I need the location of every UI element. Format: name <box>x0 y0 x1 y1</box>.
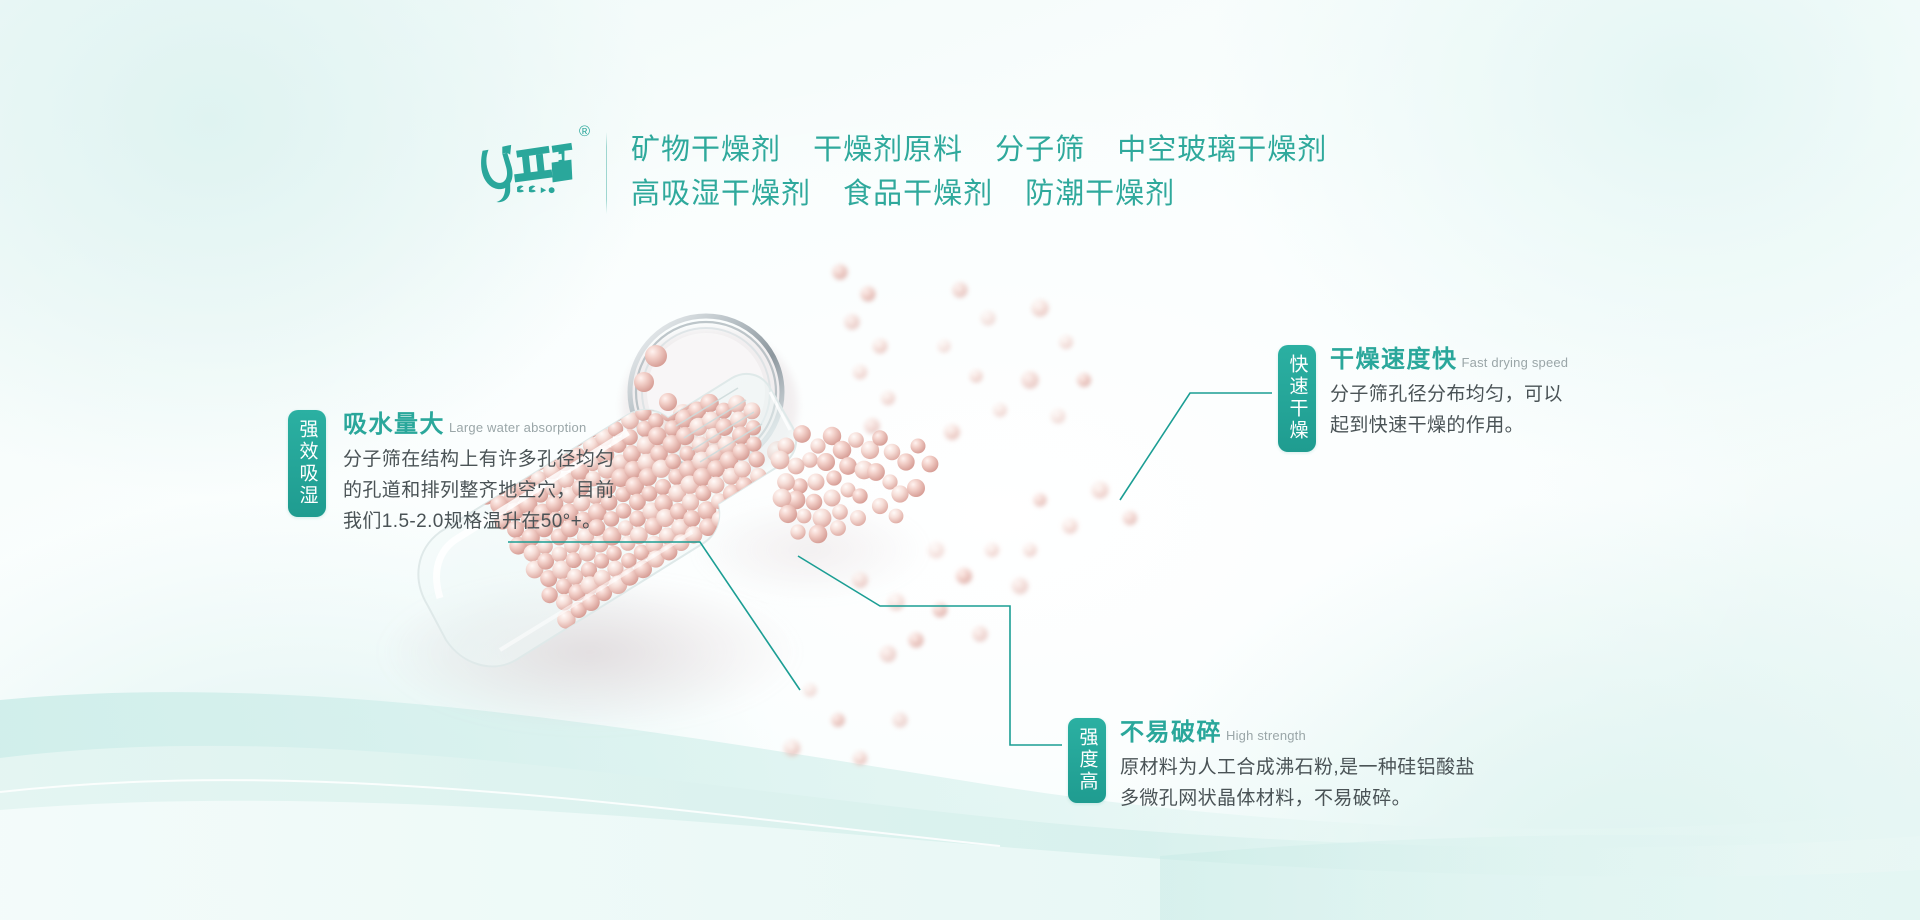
callout-body: 吸水量大 Large water absorption 分子筛在结构上有许多孔径… <box>343 410 615 537</box>
callout-high-strength: 强度高 不易破碎 High strength 原材料为人工合成沸石粉,是一种硅铝… <box>1068 718 1475 814</box>
banner-stage: ® 矿物干燥剂 干燥剂原料 分子筛 中空玻璃干燥剂 高吸湿干燥剂 食品干燥剂 防… <box>0 0 1920 920</box>
callout-body: 干燥速度快 Fast drying speed 分子筛孔径分布均匀，可以 起到快… <box>1330 345 1568 441</box>
callout-text: 原材料为人工合成沸石粉,是一种硅铝酸盐 多微孔网状晶体材料，不易破碎。 <box>1120 752 1475 814</box>
callout-title: 不易破碎 <box>1120 718 1222 748</box>
callout-text: 分子筛在结构上有许多孔径均匀 的孔道和排列整齐地空穴，目前 我们1.5-2.0规… <box>343 444 615 537</box>
callout-badge-label: 快速干燥 <box>1285 354 1310 442</box>
callout-title-row: 干燥速度快 Fast drying speed <box>1330 345 1568 375</box>
callout-subtitle: Fast drying speed <box>1462 355 1569 370</box>
registered-trademark-icon: ® <box>579 124 590 139</box>
callout-subtitle: Large water absorption <box>449 420 586 435</box>
callout-badge: 强效吸湿 <box>288 410 326 517</box>
callout-fast-drying-speed: 快速干燥 干燥速度快 Fast drying speed 分子筛孔径分布均匀，可… <box>1278 345 1568 452</box>
keyword-item[interactable]: 防潮干燥剂 <box>1025 178 1175 210</box>
callout-title: 吸水量大 <box>343 410 445 440</box>
callout-badge: 快速干燥 <box>1278 345 1316 452</box>
callout-title-row: 吸水量大 Large water absorption <box>343 410 615 440</box>
keyword-item[interactable]: 分子筛 <box>995 134 1085 166</box>
callout-body: 不易破碎 High strength 原材料为人工合成沸石粉,是一种硅铝酸盐 多… <box>1120 718 1475 814</box>
brand-header: ® 矿物干燥剂 干燥剂原料 分子筛 中空玻璃干燥剂 高吸湿干燥剂 食品干燥剂 防… <box>474 126 1327 218</box>
callout-title: 干燥速度快 <box>1330 345 1458 375</box>
callout-subtitle: High strength <box>1226 728 1306 743</box>
keyword-list: 矿物干燥剂 干燥剂原料 分子筛 中空玻璃干燥剂 高吸湿干燥剂 食品干燥剂 防潮干… <box>631 126 1327 216</box>
brand-logo[interactable]: ® <box>474 126 584 218</box>
keyword-item[interactable]: 食品干燥剂 <box>843 178 993 210</box>
yaxin-logo-icon <box>474 132 574 206</box>
callout-large-water-absorption: 强效吸湿 吸水量大 Large water absorption 分子筛在结构上… <box>288 410 615 537</box>
callout-badge: 强度高 <box>1068 718 1106 803</box>
keyword-item[interactable]: 矿物干燥剂 <box>631 134 781 166</box>
keyword-item[interactable]: 中空玻璃干燥剂 <box>1117 134 1327 166</box>
keyword-row-2: 高吸湿干燥剂 食品干燥剂 防潮干燥剂 <box>631 172 1327 216</box>
keyword-item[interactable]: 干燥剂原料 <box>813 134 963 166</box>
keyword-item[interactable]: 高吸湿干燥剂 <box>631 178 811 210</box>
callout-badge-label: 强度高 <box>1075 727 1100 793</box>
keyword-row-1: 矿物干燥剂 干燥剂原料 分子筛 中空玻璃干燥剂 <box>631 128 1327 172</box>
callout-badge-label: 强效吸湿 <box>295 419 320 507</box>
header-divider <box>606 132 607 214</box>
callout-text: 分子筛孔径分布均匀，可以 起到快速干燥的作用。 <box>1330 379 1568 441</box>
callout-title-row: 不易破碎 High strength <box>1120 718 1475 748</box>
